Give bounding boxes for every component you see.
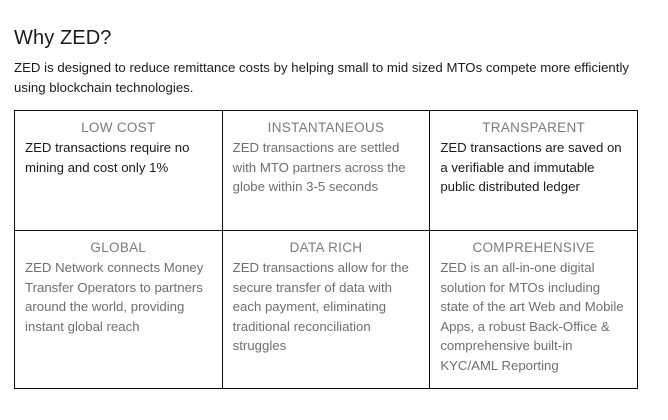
feature-title: GLOBAL	[25, 239, 212, 257]
feature-title: INSTANTANEOUS	[233, 119, 420, 137]
feature-title: COMPREHENSIVE	[440, 239, 627, 257]
feature-body: ZED transactions allow for the secure tr…	[233, 258, 420, 356]
intro-paragraph: ZED is designed to reduce remittance cos…	[14, 58, 644, 98]
feature-cell-data-rich: DATA RICH ZED transactions allow for the…	[222, 231, 430, 389]
feature-title: LOW COST	[25, 119, 212, 137]
feature-title: DATA RICH	[233, 239, 420, 257]
feature-cell-low-cost: LOW COST ZED transactions require no min…	[15, 111, 223, 231]
page-title: Why ZED?	[14, 25, 111, 51]
feature-cell-instantaneous: INSTANTANEOUS ZED transactions are settl…	[222, 111, 430, 231]
feature-cell-global: GLOBAL ZED Network connects Money Transf…	[15, 231, 223, 389]
feature-title: TRANSPARENT	[440, 119, 627, 137]
table-row: GLOBAL ZED Network connects Money Transf…	[15, 231, 638, 389]
feature-body: ZED transactions require no mining and c…	[25, 138, 212, 177]
feature-cell-transparent: TRANSPARENT ZED transactions are saved o…	[430, 111, 638, 231]
feature-body: ZED transactions are saved on a verifiab…	[440, 138, 627, 197]
feature-body: ZED transactions are settled with MTO pa…	[233, 138, 420, 197]
feature-body: ZED is an all-in-one digital solution fo…	[440, 258, 627, 376]
why-zed-section: Why ZED? ZED is designed to reduce remit…	[0, 0, 668, 420]
feature-table: LOW COST ZED transactions require no min…	[14, 110, 638, 389]
table-row: LOW COST ZED transactions require no min…	[15, 111, 638, 231]
feature-body: ZED Network connects Money Transfer Oper…	[25, 258, 212, 336]
feature-cell-comprehensive: COMPREHENSIVE ZED is an all-in-one digit…	[430, 231, 638, 389]
